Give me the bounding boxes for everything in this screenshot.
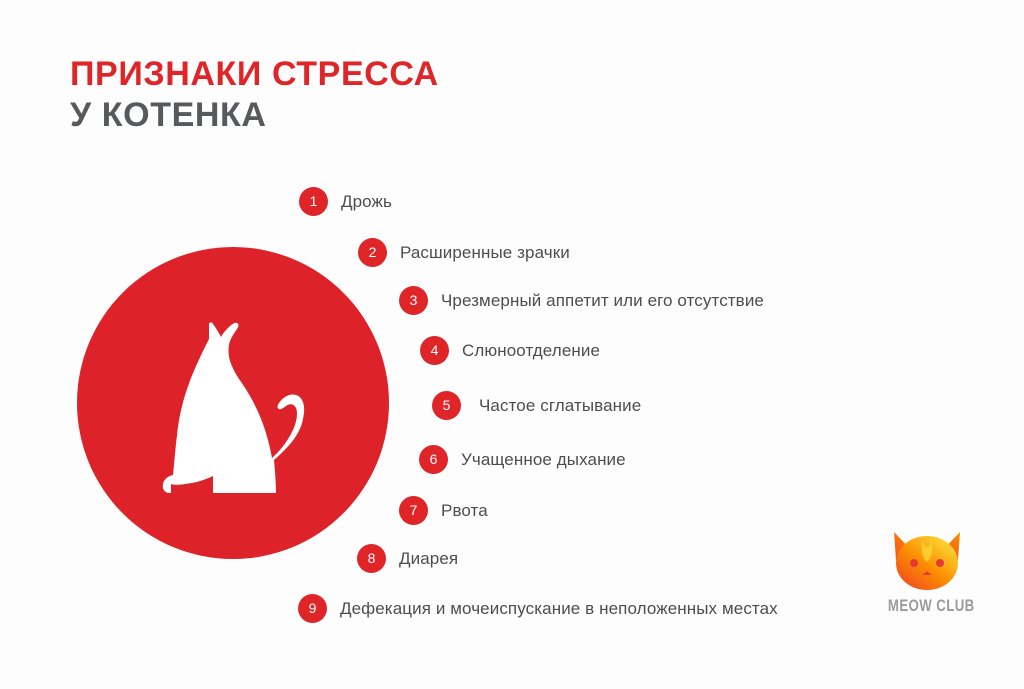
list-item: 7 Рвота xyxy=(399,496,488,525)
list-item-number: 6 xyxy=(419,445,448,474)
list-item-label: Дефекация и мочеиспускание в неположенны… xyxy=(340,600,778,617)
list-item-number: 3 xyxy=(399,286,428,315)
list-item-label: Диарея xyxy=(399,550,458,567)
list-item: 9 Дефекация и мочеиспускание в неположен… xyxy=(298,594,778,623)
list-item: 1 Дрожь xyxy=(299,187,392,216)
stress-signs-infographic: ПРИЗНАКИ СТРЕССА У КОТЕНКА 1 Дрожь 2 Рас… xyxy=(0,0,1024,689)
list-item-number: 9 xyxy=(298,594,327,623)
meow-club-logo: MEOW CLUB xyxy=(876,530,984,622)
list-item: 4 Слюноотделение xyxy=(420,336,600,365)
list-item-number: 8 xyxy=(357,544,386,573)
list-item-label: Расширенные зрачки xyxy=(400,244,570,261)
list-item-number: 5 xyxy=(432,391,461,420)
list-item-label: Частое сглатывание xyxy=(479,397,641,414)
cat-face-icon xyxy=(888,530,966,592)
list-item-number: 4 xyxy=(420,336,449,365)
list-item-label: Дрожь xyxy=(341,193,392,210)
list-item: 5 Частое сглатывание xyxy=(432,391,641,420)
list-item-number: 2 xyxy=(358,238,387,267)
list-item-label: Рвота xyxy=(441,502,488,519)
list-item-number: 1 xyxy=(299,187,328,216)
list-item-label: Чрезмерный аппетит или его отсутствие xyxy=(441,292,764,309)
list-item-label: Учащенное дыхание xyxy=(461,451,626,468)
list-item-number: 7 xyxy=(399,496,428,525)
symptom-list: 1 Дрожь 2 Расширенные зрачки 3 Чрезмерны… xyxy=(0,0,1024,689)
list-item: 8 Диарея xyxy=(357,544,458,573)
list-item: 6 Учащенное дыхание xyxy=(419,445,626,474)
list-item: 2 Расширенные зрачки xyxy=(358,238,570,267)
logo-text: MEOW CLUB xyxy=(888,596,972,616)
list-item: 3 Чрезмерный аппетит или его отсутствие xyxy=(399,286,764,315)
list-item-label: Слюноотделение xyxy=(462,342,600,359)
